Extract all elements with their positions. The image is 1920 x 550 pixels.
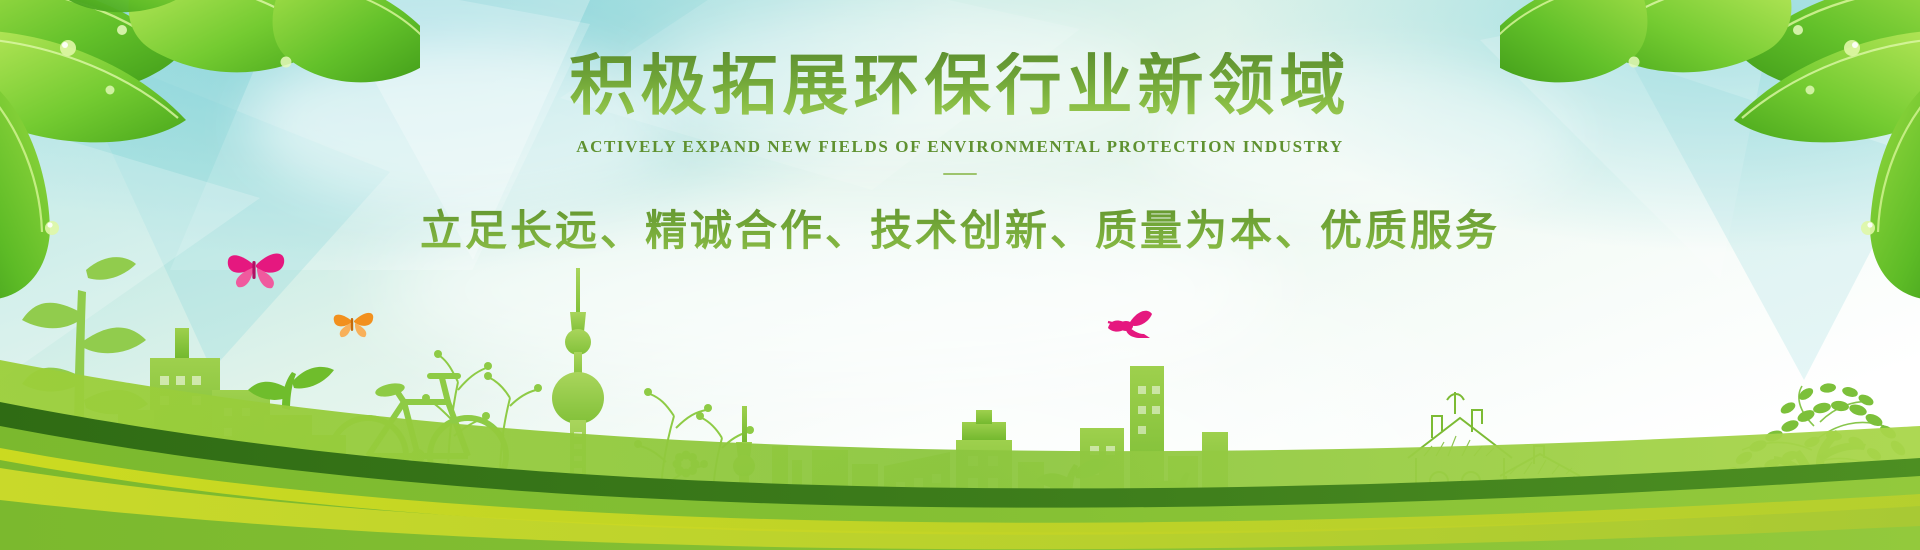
banner-title: 积极拓展环保行业新领域	[0, 52, 1920, 121]
wave-bands	[0, 330, 1920, 550]
banner-text-block: 积极拓展环保行业新领域 ACTIVELY EXPAND NEW FIELDS O…	[0, 52, 1920, 258]
banner-subtitle: ACTIVELY EXPAND NEW FIELDS OF ENVIRONMEN…	[0, 137, 1920, 157]
banner-slogan: 立足长远、精诚合作、技术创新、质量为本、优质服务	[0, 197, 1920, 258]
title-divider	[943, 173, 977, 175]
eco-banner: 积极拓展环保行业新领域 ACTIVELY EXPAND NEW FIELDS O…	[0, 0, 1920, 550]
butterfly-pink	[228, 254, 284, 289]
